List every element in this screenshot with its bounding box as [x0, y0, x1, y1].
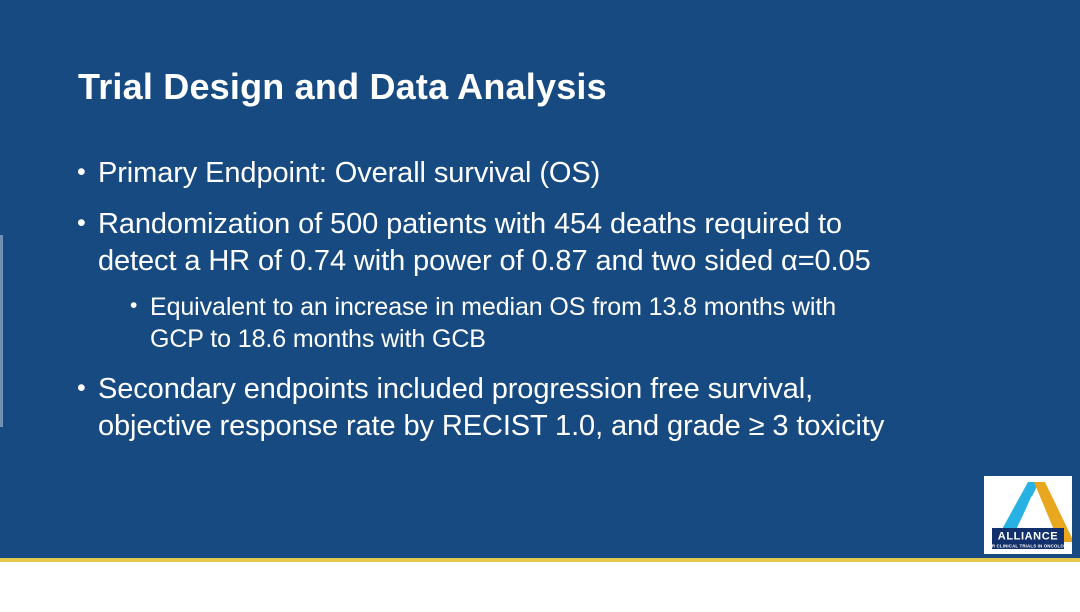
alliance-logo: ALLIANCE FOR CLINICAL TRIALS IN ONCOLOGY: [984, 476, 1072, 554]
bullet-marker-icon: •: [77, 371, 86, 407]
bullet-line: Secondary endpoints included progression…: [98, 371, 1032, 408]
bullet-line: objective response rate by RECIST 1.0, a…: [98, 408, 1032, 445]
presentation-slide: Trial Design and Data Analysis • Primary…: [0, 0, 1080, 612]
bullet-marker-icon: •: [77, 206, 86, 242]
bullet-line: Randomization of 500 patients with 454 d…: [98, 206, 1032, 243]
alliance-logo-graphic: ALLIANCE FOR CLINICAL TRIALS IN ONCOLOGY: [984, 476, 1072, 554]
bullet-marker-icon: •: [130, 291, 137, 321]
left-edge-artifact: [0, 235, 3, 427]
sub-bullet-item: • Equivalent to an increase in median OS…: [124, 291, 1032, 355]
slide-footer: PRESENTED AT: 2019ASCO® ANNUAL MEETING #…: [0, 562, 1080, 612]
bullet-line: Primary Endpoint: Overall survival (OS): [98, 155, 1032, 192]
slide-body: Trial Design and Data Analysis • Primary…: [0, 0, 1080, 558]
bullet-item: • Randomization of 500 patients with 454…: [72, 206, 1032, 280]
alliance-name: ALLIANCE: [998, 531, 1058, 543]
bullet-line: GCP to 18.6 months with GCB: [150, 323, 1032, 355]
bullet-item: • Secondary endpoints included progressi…: [72, 371, 1032, 445]
bullet-item: • Primary Endpoint: Overall survival (OS…: [72, 155, 1032, 192]
alliance-tagline: FOR CLINICAL TRIALS IN ONCOLOGY: [985, 544, 1070, 549]
bullet-line: Equivalent to an increase in median OS f…: [150, 291, 1032, 323]
page-title: Trial Design and Data Analysis: [78, 66, 607, 108]
slide-content: • Primary Endpoint: Overall survival (OS…: [72, 155, 1032, 457]
bullet-marker-icon: •: [77, 155, 86, 191]
bullet-line: detect a HR of 0.74 with power of 0.87 a…: [98, 243, 1032, 280]
